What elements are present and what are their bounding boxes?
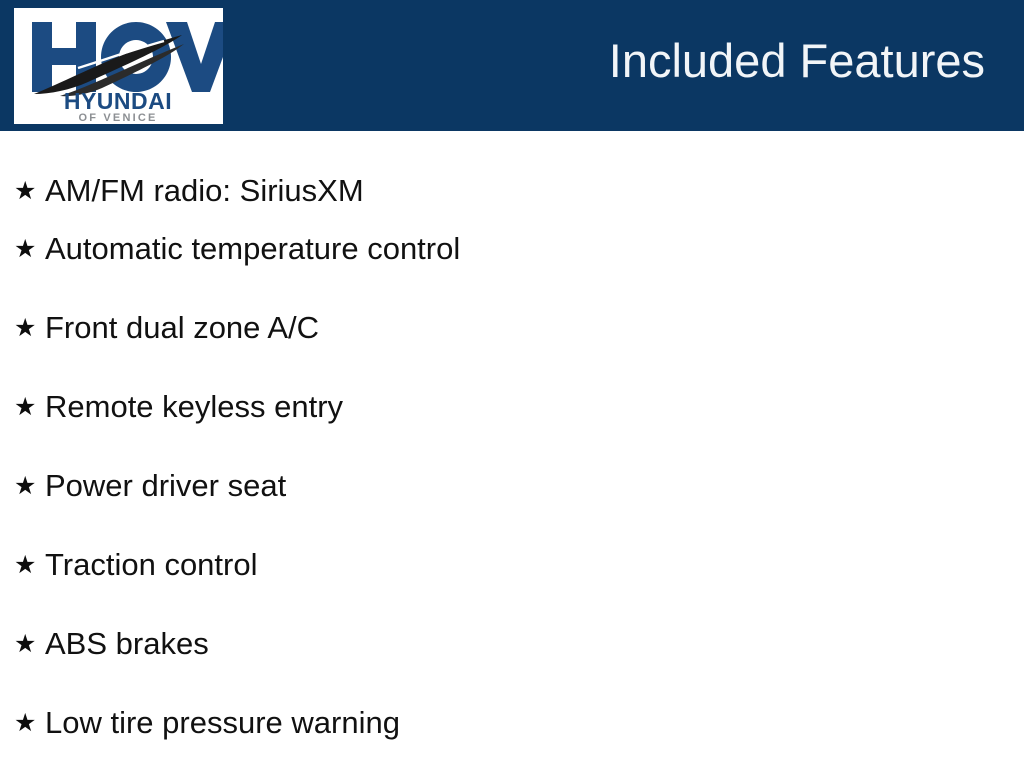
list-item: ★ Front dual zone A/C: [0, 289, 1024, 368]
svg-text:OF VENICE: OF VENICE: [78, 112, 157, 124]
slide: Included Features HYUNDAI OF VENICE ★ AM…: [0, 0, 1024, 768]
star-icon: ★: [14, 308, 45, 348]
feature-label: ABS brakes: [45, 624, 1024, 664]
list-item: ★ AM/FM radio: SiriusXM: [0, 131, 1024, 210]
star-icon: ★: [14, 387, 45, 427]
star-icon: ★: [14, 703, 45, 743]
hov-logo-icon: HYUNDAI OF VENICE: [14, 8, 223, 124]
star-icon: ★: [14, 466, 45, 506]
star-icon: ★: [14, 171, 45, 211]
list-item: ★ Traction control: [0, 526, 1024, 605]
feature-label: AM/FM radio: SiriusXM: [45, 171, 1024, 211]
feature-label: Traction control: [45, 545, 1024, 585]
page-title: Included Features: [609, 32, 985, 90]
list-item: ★ Remote keyless entry: [0, 368, 1024, 447]
feature-label: Front dual zone A/C: [45, 308, 1024, 348]
feature-label: Automatic temperature control: [45, 229, 1024, 269]
list-item: ★ Automatic temperature control: [0, 210, 1024, 289]
star-icon: ★: [14, 624, 45, 664]
feature-label: Remote keyless entry: [45, 387, 1024, 427]
star-icon: ★: [14, 545, 45, 585]
feature-list: ★ AM/FM radio: SiriusXM ★ Automatic temp…: [0, 131, 1024, 763]
list-item: ★ Power driver seat: [0, 447, 1024, 526]
list-item: ★ Low tire pressure warning: [0, 684, 1024, 763]
svg-text:HYUNDAI: HYUNDAI: [64, 88, 172, 114]
feature-label: Low tire pressure warning: [45, 703, 1024, 743]
dealer-logo: HYUNDAI OF VENICE: [14, 8, 223, 124]
list-item: ★ ABS brakes: [0, 605, 1024, 684]
star-icon: ★: [14, 229, 45, 269]
feature-label: Power driver seat: [45, 466, 1024, 506]
